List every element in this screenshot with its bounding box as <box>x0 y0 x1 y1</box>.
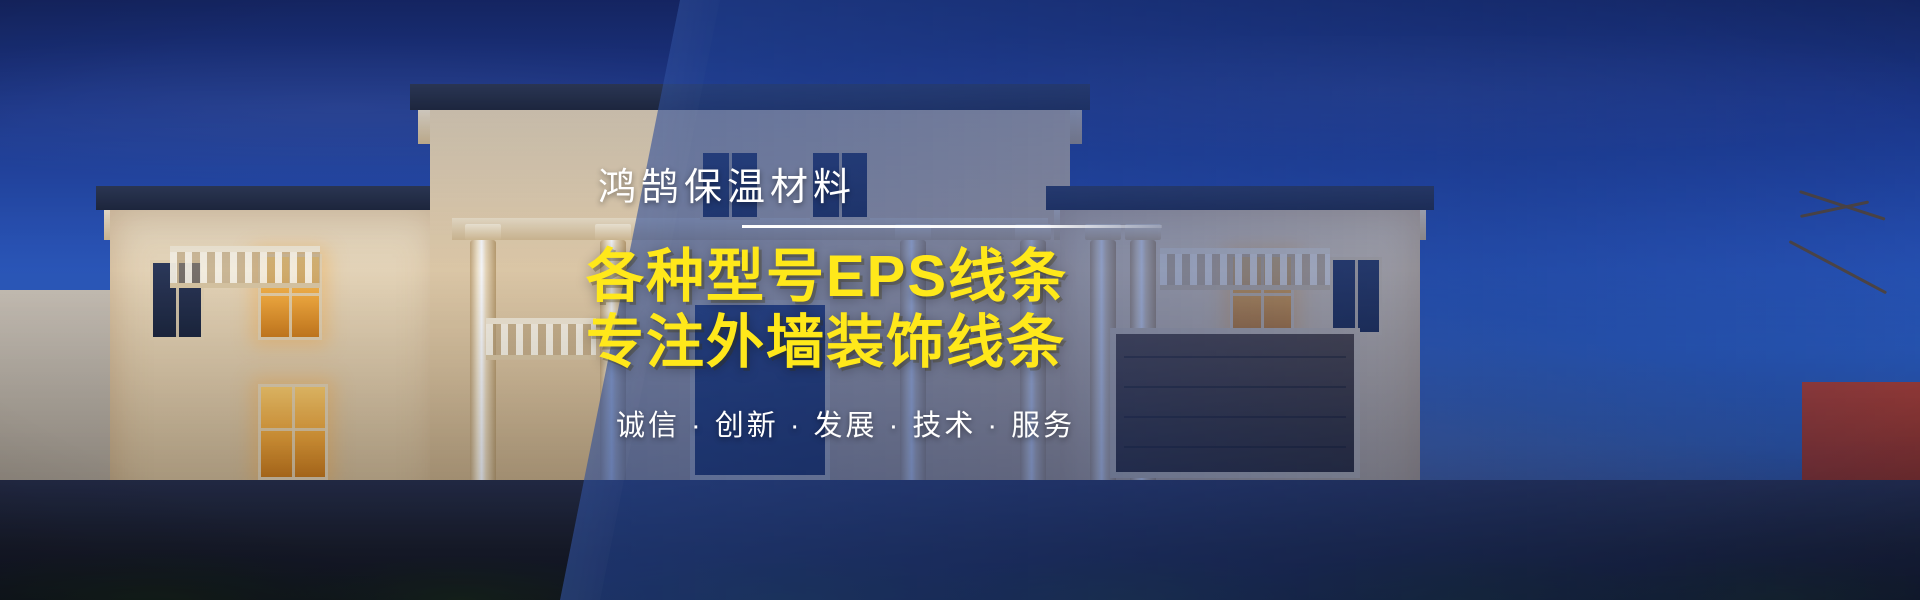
divider-rule <box>742 225 1162 228</box>
promo-banner: 鸿鹄保温材料 各种型号EPS线条 专注外墙装饰线条 诚信 · 创新 · 发展 ·… <box>0 0 1920 600</box>
tagline: 诚信 · 创新 · 发展 · 技术 · 服务 <box>616 402 1320 444</box>
brand-name: 鸿鹄保温材料 <box>598 156 1320 211</box>
banner-content: 鸿鹄保温材料 各种型号EPS线条 专注外墙装饰线条 诚信 · 创新 · 发展 ·… <box>560 0 1320 600</box>
headline: 各种型号EPS线条 专注外墙装饰线条 <box>586 244 1320 376</box>
headline-line-1: 各种型号EPS线条 <box>586 244 1068 309</box>
headline-line-2: 专注外墙装饰线条 <box>586 310 1320 376</box>
